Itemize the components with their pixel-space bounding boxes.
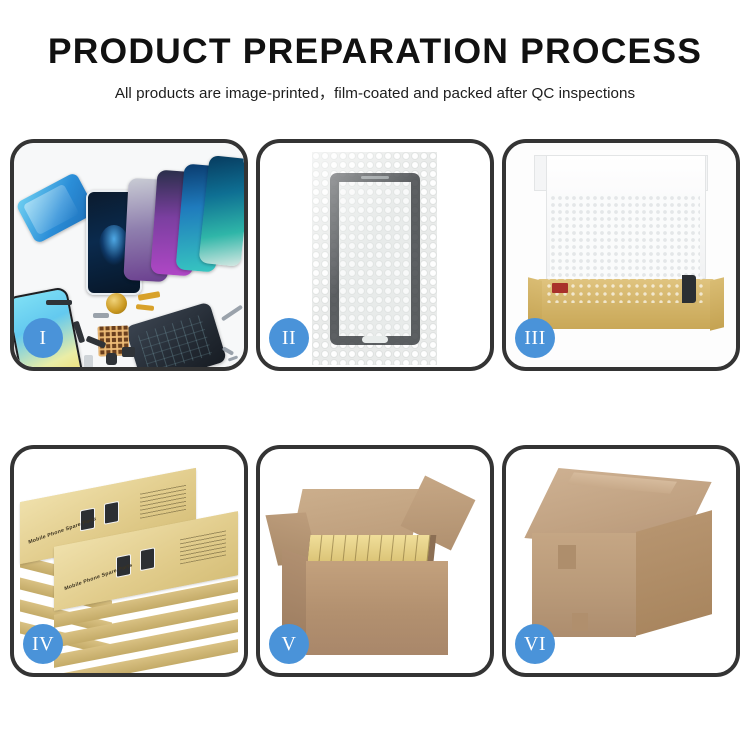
step-badge-2: II bbox=[269, 318, 309, 358]
wrapped-screen-in-box bbox=[546, 275, 704, 303]
speaker-coil-part bbox=[106, 293, 127, 314]
step-panel-2: II bbox=[256, 139, 494, 371]
step-badge-6: VI bbox=[515, 624, 555, 664]
step-badge-3: III bbox=[515, 318, 555, 358]
page-title: PRODUCT PREPARATION PROCESS bbox=[0, 33, 750, 71]
step-badge-5: V bbox=[269, 624, 309, 664]
carton-flap-seam-upper bbox=[558, 545, 576, 569]
sealed-carton-right-face bbox=[636, 510, 712, 636]
box-phone-icon-4 bbox=[140, 547, 155, 571]
bubble-wrap-sheet bbox=[312, 152, 437, 365]
product-preparation-infographic: PRODUCT PREPARATION PROCESS All products… bbox=[0, 0, 750, 750]
page-subtitle: All products are image-printed，film-coat… bbox=[0, 81, 750, 103]
camera-module-part bbox=[122, 347, 135, 357]
box-phone-icon-2 bbox=[104, 501, 119, 525]
screen-red-label bbox=[552, 283, 568, 293]
step-panel-1: I bbox=[10, 139, 248, 371]
screen-dark-edge bbox=[682, 275, 696, 303]
step-panel-5: V bbox=[256, 445, 494, 677]
antenna-strip-part bbox=[46, 300, 72, 305]
step-panel-4: Mobile Phone Spare Parts Mobile Phone Sp… bbox=[10, 445, 248, 677]
vibrator-part bbox=[106, 353, 117, 365]
step-badge-4: IV bbox=[23, 624, 63, 664]
carton-flap-seam-lower bbox=[572, 613, 588, 631]
step-panel-3: III bbox=[502, 139, 740, 371]
header: PRODUCT PREPARATION PROCESS All products… bbox=[0, 0, 750, 103]
bubble-wrap-gloss bbox=[312, 152, 437, 365]
step-panel-6: VI bbox=[502, 445, 740, 677]
foam-padding bbox=[550, 195, 700, 279]
carton-front-face bbox=[306, 561, 448, 655]
step-badge-1: I bbox=[23, 318, 63, 358]
process-steps-grid: I II bbox=[10, 139, 740, 677]
metal-bracket-part bbox=[93, 313, 109, 318]
sim-tray-part bbox=[84, 355, 93, 367]
